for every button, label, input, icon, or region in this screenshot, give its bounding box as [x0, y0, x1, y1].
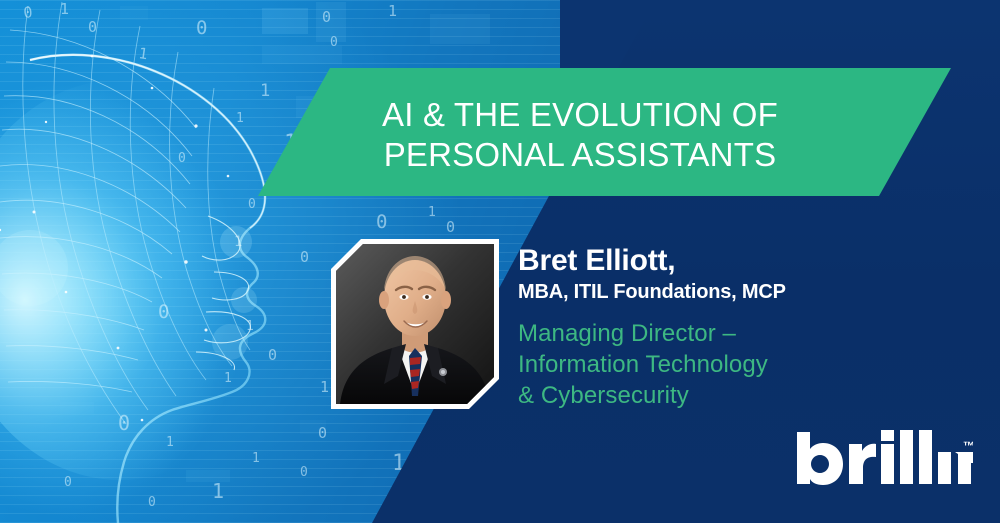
- title-line-1: AI & THE EVOLUTION OF: [382, 96, 778, 135]
- speaker-headshot: [336, 244, 494, 404]
- presentation-slide: 0 1 1 0 0 0 1 0 1 1 0 1 0 1 0 0 1 0 0 1: [0, 0, 1000, 523]
- speaker-role-line-1: Managing Director –: [518, 318, 938, 349]
- speaker-credentials: MBA, ITIL Foundations, MCP: [518, 281, 938, 304]
- speaker-role: Managing Director – Information Technolo…: [518, 318, 938, 412]
- speaker-role-line-3: & Cybersecurity: [518, 380, 938, 411]
- title-line-2: PERSONAL ASSISTANTS: [384, 136, 777, 175]
- trademark-symbol: ™: [963, 439, 973, 453]
- speaker-name: Bret Elliott,: [518, 245, 938, 277]
- title-text-block: AI & THE EVOLUTION OF PERSONAL ASSISTANT…: [250, 72, 910, 198]
- brillit-logo[interactable]: ™: [795, 430, 973, 486]
- speaker-role-line-2: Information Technology: [518, 349, 938, 380]
- speaker-info: Bret Elliott, MBA, ITIL Foundations, MCP…: [518, 245, 938, 411]
